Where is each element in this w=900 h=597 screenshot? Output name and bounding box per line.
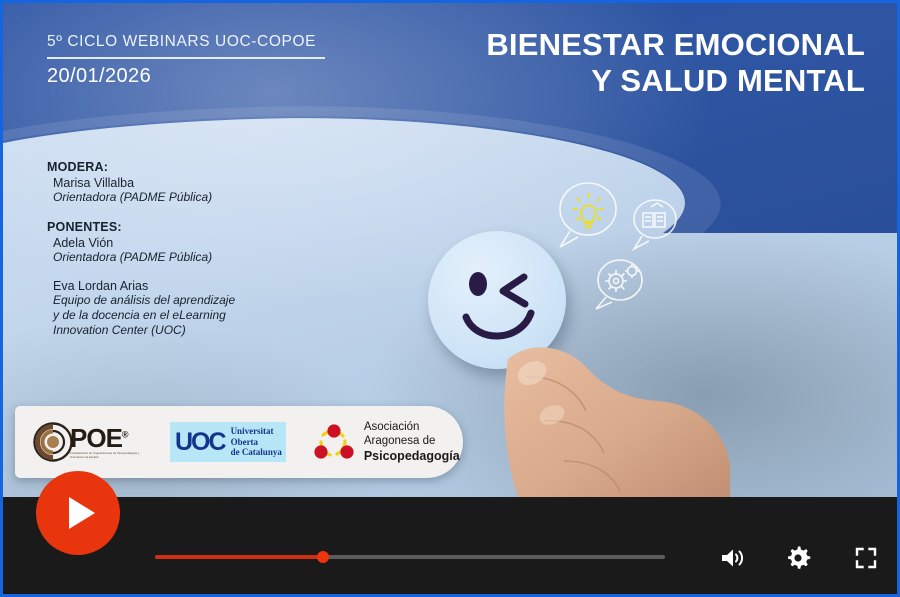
presenter-2-role-line-3: Innovation Center (UOC) xyxy=(53,323,287,338)
copoe-subtitle: Confederación de Organizaciones de Psico… xyxy=(70,452,144,460)
moderator-role: Orientadora (PADME Pública) xyxy=(53,190,287,205)
uoc-name-line-1: Universitat xyxy=(231,426,274,436)
progress-handle[interactable] xyxy=(317,551,329,563)
aap-triangle-icon xyxy=(312,422,356,462)
uoc-name-line-2: Oberta xyxy=(231,437,259,447)
page-title: BIENESTAR EMOCIONAL Y SALUD MENTAL xyxy=(486,27,865,99)
fullscreen-button[interactable] xyxy=(849,541,883,575)
copoe-mark-icon xyxy=(33,422,73,462)
title-line-1: BIENESTAR EMOCIONAL xyxy=(486,27,865,63)
settings-button[interactable] xyxy=(781,541,815,575)
presenter-1-name: Adela Vión xyxy=(53,236,287,250)
presenter-2-role-line-2: y de la docencia en el eLearning xyxy=(53,308,287,323)
presenters-label: PONENTES: xyxy=(47,220,287,234)
copoe-wordmark: POE® xyxy=(70,425,144,451)
uoc-letters: UOC xyxy=(175,430,225,455)
webinar-series-kicker: 5º CICLO WEBINARS UOC-COPOE xyxy=(47,33,325,51)
progress-fill xyxy=(155,555,323,559)
presenter-2-name: Eva Lordan Arias xyxy=(53,279,287,293)
aap-line-2: Aragonesa de xyxy=(364,434,460,448)
moderator-label: MODERA: xyxy=(47,160,287,174)
play-button[interactable] xyxy=(36,471,120,555)
moderator-name: Marisa Villalba xyxy=(53,176,287,190)
title-line-2: Y SALUD MENTAL xyxy=(486,63,865,99)
smiley-features xyxy=(428,231,566,369)
volume-button[interactable] xyxy=(715,541,749,575)
presenter-1-role: Orientadora (PADME Pública) xyxy=(53,250,287,265)
slide-canvas: 5º CICLO WEBINARS UOC-COPOE 20/01/2026 B… xyxy=(3,3,900,503)
fullscreen-icon xyxy=(854,546,878,570)
uoc-badge: UOC Universitat Oberta de Catalunya xyxy=(170,422,286,463)
aap-line-3: Psicopedagogía xyxy=(364,449,460,465)
volume-icon xyxy=(719,546,745,570)
player-control-bar xyxy=(3,497,900,594)
aap-line-1: Asociación xyxy=(364,420,460,434)
copoe-registered: ® xyxy=(122,429,128,439)
progress-bar[interactable] xyxy=(155,555,665,559)
video-player: 5º CICLO WEBINARS UOC-COPOE 20/01/2026 B… xyxy=(0,0,900,597)
presenter-2-role-line-1: Equipo de análisis del aprendizaje xyxy=(53,293,287,308)
header-text-group: 5º CICLO WEBINARS UOC-COPOE 20/01/2026 B… xyxy=(3,3,900,133)
speaker-list: MODERA: Marisa Villalba Orientadora (PAD… xyxy=(47,158,287,339)
webinar-date: 20/01/2026 xyxy=(47,65,151,88)
smiley-card xyxy=(428,231,578,371)
logo-uoc: UOC Universitat Oberta de Catalunya xyxy=(170,406,286,478)
uoc-full-name: Universitat Oberta de Catalunya xyxy=(231,426,282,459)
kicker-divider xyxy=(47,57,325,59)
aap-name: Asociación Aragonesa de Psicopedagogía xyxy=(364,420,460,464)
uoc-name-line-3: de Catalunya xyxy=(231,447,282,457)
logo-copoe: POE® Confederación de Organizaciones de … xyxy=(33,406,144,478)
logo-asociacion-aragonesa: Asociación Aragonesa de Psicopedagogía xyxy=(312,406,460,478)
gear-icon xyxy=(785,545,811,571)
play-icon xyxy=(69,497,95,529)
logo-bar: POE® Confederación de Organizaciones de … xyxy=(15,406,463,478)
